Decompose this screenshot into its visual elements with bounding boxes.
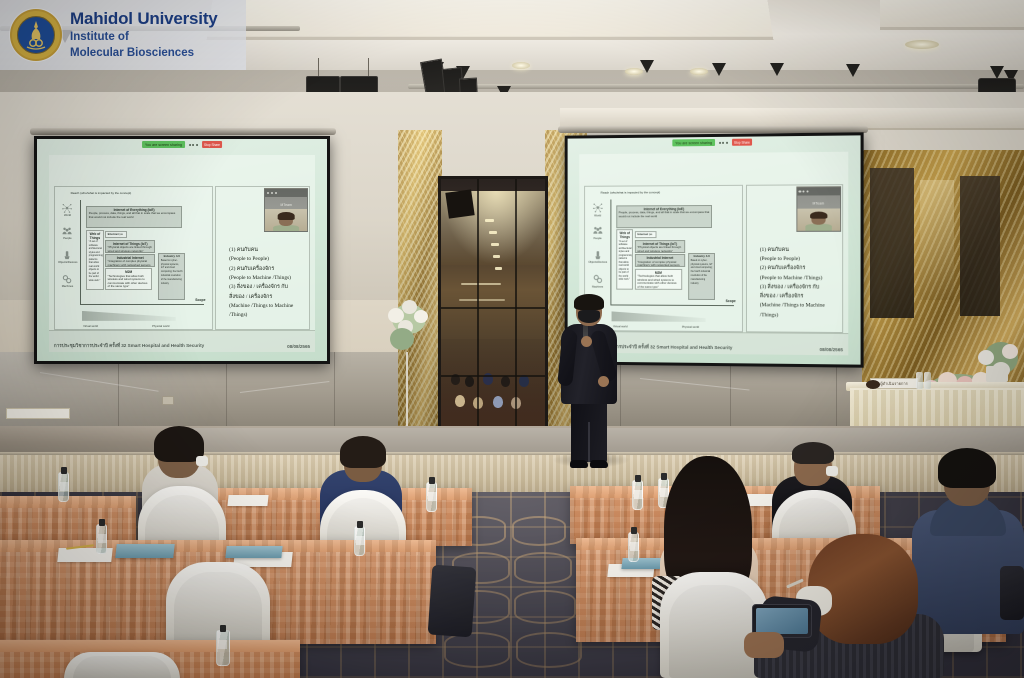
objects-devices-icon [60,250,74,260]
objects-devices-icon [591,250,605,260]
bay-panel [870,168,914,318]
slide-body: Reach (who/what is impacted by the conce… [54,186,310,330]
bag-icon [1000,566,1024,620]
slide-text-line: (People to Machine /Things) [229,274,301,283]
diagram-axis-label: Objects/Devices [58,261,77,264]
water-bottle-icon [916,372,923,389]
seminar-booklet [225,546,282,558]
slide-footer-date: 08/08/2565 [287,344,310,349]
diagram-box-internet: Internet (as we know it) [105,231,127,238]
zoom-participant-window[interactable]: MTeam [796,186,841,232]
conference-room-photo: You are screen sharing Stop Share Reach … [0,0,1024,678]
seated-staff-head [866,380,880,389]
diagram-virtual-world-label: Virtual world [83,325,98,328]
diagram-axis-label: World [588,214,607,217]
slide-text-line: (2) คนกับเครื่องจักร [229,265,301,274]
diagram-box-iot: Internet of Things (IoT) "Physical objec… [635,240,685,253]
doorway-glint [459,299,505,301]
diagram-box-industry-40: Industry 4.0 Based on cyber-physical sys… [688,253,715,301]
crest-emblem [23,20,49,50]
diagram-box-title: Internet [108,232,119,236]
diagram-axis-label: Machines [58,285,77,288]
diagram-box-body: "Physical objects are linked through wir… [108,245,152,252]
presenter-hair [574,294,604,310]
door-mullion [515,179,517,434]
marble-seam [334,352,335,428]
diagram-x-axis [610,305,734,307]
spotlight-icon [712,63,726,76]
machines-gear-icon [591,274,605,284]
presenter-leg-split [588,422,590,462]
diagram-box-body: "Integration of complex physical machine… [108,259,151,266]
laptop-icon [986,366,1008,382]
diagram-y-axis-note: (who/what is impacted by the concept) [610,191,660,195]
zoom-sharing-label: You are screen sharing [142,141,185,148]
diagram-box-body: "Integration of complex physical machine… [637,259,679,267]
slide-text-line: /Things) [229,311,301,320]
doorway-glint [461,283,501,285]
diagram-box-m2m: M2M "Technologies that allow both wirele… [105,268,152,289]
mask-strap [786,578,804,588]
zoom-window-titlebar [797,187,840,195]
diagram-y-axis-note: (who/what is impacted by the concept) [80,191,131,195]
water-bottle-icon [426,482,437,512]
diagram-x-axis [80,304,204,305]
doorway-crowd-reflection [441,339,548,431]
zoom-participant-video [797,208,840,231]
watermark-institute-line2: Molecular Biosciences [70,46,218,60]
face-mask-icon [826,466,838,476]
diagram-box-industrial-internet: Industrial Internet "Integration of comp… [105,254,155,267]
handout-paper [227,495,268,506]
door-mullion [477,179,479,434]
zoom-sharing-label: You are screen sharing [672,139,715,146]
diagram-gradient-triangle [82,311,176,321]
downlight-icon [905,40,939,49]
diagram-y-axis [610,200,611,306]
attendee-hair [340,436,386,468]
diagram-box-title: Internet [637,232,648,236]
watermark-overlay: Mahidol University Institute of Molecula… [0,0,246,70]
participant-hair [810,211,827,219]
people-icon [591,225,605,235]
diagram-physical-world-label: Physical world [152,325,169,328]
backpack-icon [428,565,477,638]
floral-arrangement-column [386,298,432,354]
presenter-speaking [558,296,620,472]
diagram-box-body: Based on cyber-physical systems, IoT and… [691,260,713,285]
watermark-institute-line1: Institute of [70,30,218,44]
world-network-icon [591,202,605,212]
slide-text-line: (People to People) [229,255,301,264]
spotlight-icon [846,64,860,77]
slide-footer-title: การประชุมวิชาการประจำปี ครั้งที่ 32 Smar… [54,343,204,350]
slide-footer-date: 08/08/2565 [820,347,843,352]
zoom-participant-name: MTeam [797,201,840,205]
carpet-motif [514,590,576,624]
doorway-glint [485,219,494,222]
slide-text-line: (People to People) [760,255,834,264]
downlight-icon [625,68,643,75]
carpet-motif [514,552,572,584]
diagram-box-ioe: Internet of Everything (IoE) People, pro… [616,205,712,228]
water-bottle-icon [924,372,931,389]
gold-column-left [398,130,442,435]
diagram-box-iot: Internet of Things (IoT) "Physical objec… [105,240,155,253]
slide-text-line: (1) คนกับคน [229,246,301,255]
diagram-box-body: "Technologies that allow both wireless a… [637,274,676,288]
slide-text-line: (2) คนกับเครื่องจักร [760,264,834,274]
slide-text-line: (Machine /Things to Machine [229,302,301,311]
wall-outlet-icon [162,396,174,405]
slide-text-line: สิ่งของ / เครื่องจักร [229,293,301,302]
tablecloth-top [0,640,300,652]
attendee-hair [938,448,996,488]
diagram-box-industry-40: Industry 4.0 Based on cyber-physical sys… [158,253,185,300]
diagram-axis-label: People [588,237,607,240]
watermark-university-name: Mahidol University [70,10,218,28]
bay-panel [960,176,1000,316]
doorway-glint [493,255,500,258]
slide-text-line: (1) คนกับคน [760,246,834,255]
screen-surface-left: You are screen sharing Stop Share Reach … [37,139,327,361]
slide-footer: การประชุมวิชาการประจำปี ครั้งที่ 32 Smar… [54,343,310,350]
name-card-left [6,408,70,419]
diagram-box-body: People, process, data, things, and all t… [619,210,710,218]
projection-screen-left: You are screen sharing Stop Share Reach … [34,136,330,364]
zoom-sharebar-dots [187,144,200,146]
slide-text-line: (3) สิ่งของ / เครื่องจักร กับ [229,283,301,292]
diagram-box-body: "A set of software architectural styles … [619,240,633,281]
water-bottle-icon [632,480,643,510]
diagram-y-axis-title-text: Reach [601,191,609,195]
slide-text-line: (3) สิ่งของ / เครื่องจักร กับ [760,283,834,293]
presenter-shoe [570,460,588,468]
diagram-box-internet: Internet (as we know it) [635,231,657,238]
water-bottle-icon [628,532,639,562]
diagram-axis-label: Machines [588,285,607,288]
diagram-axis-label: Objects/Devices [588,261,607,264]
water-bottle-icon [216,630,230,666]
door-mullion [441,307,548,309]
zoom-stop-share-button[interactable]: Stop Share [732,139,752,146]
slide-content-left: Reach (who/what is impacted by the conce… [49,155,316,353]
slide-body: Reach (who/what is impacted by the conce… [584,184,843,333]
attendee-phone-camera [754,528,944,678]
world-network-icon [60,203,74,213]
carpet-motif [516,632,582,668]
diagram-x-axis-title: Scope [726,299,736,303]
diagram-y-axis-title: Reach (who/what is impacted by the conce… [601,191,661,195]
slide-text-pane: MTeam (1) คนกับคน (People to People) (2)… [215,186,310,330]
face-mask-icon [578,310,600,323]
presenter-hand [598,376,609,387]
water-bottle-icon [58,472,69,502]
zoom-sharebar-dots [717,141,730,143]
diagram-box-body: "Technologies that allow both wireless a… [108,274,148,288]
reflected-person [465,376,474,387]
machines-gear-icon [60,274,74,284]
doorway-glint [495,267,502,270]
downlight-icon [690,68,708,75]
spotlight-icon [770,63,784,76]
seminar-booklet [115,544,174,558]
zoom-share-bar: You are screen sharing Stop Share [142,141,222,148]
zoom-participant-video [265,209,307,231]
diagram-y-axis-title: Reach (who/what is impacted by the conce… [71,191,132,195]
mirrored-doorway [438,176,548,434]
zoom-stop-share-button[interactable]: Stop Share [202,141,222,148]
attendee-hair [792,442,834,464]
presenter-shoe [590,460,608,468]
diagram-x-axis-title: Scope [195,298,205,302]
chair-cover [64,652,180,678]
zoom-window-titlebar [265,189,307,197]
watermark-text: Mahidol University Institute of Molecula… [70,10,218,60]
slide-text-line: สิ่งของ / เครื่องจักร [760,292,834,302]
diagram-y-axis [80,200,81,305]
slide-text-line: (Machine /Things to Machine [760,302,834,312]
zoom-participant-name: MTeam [265,203,307,207]
face-mask-icon [196,456,208,466]
diagram-axis-label: World [58,214,77,217]
people-icon [60,226,74,236]
diagram-box-body: Based on cyber-physical systems, IoT and… [161,260,183,285]
participant-body [805,224,832,231]
diagram-box-ioe: Internet of Everything (IoE) People, pro… [86,206,182,229]
downlight-icon [512,62,530,69]
carpet-motif [444,632,510,668]
presenter-hand [581,336,592,347]
diagram-axis-label: People [58,237,77,240]
slide-text-line: /Things) [760,311,834,321]
reflected-person [493,396,503,408]
diagram-y-axis-title-text: Reach [71,191,80,195]
speaker-wire [318,58,319,78]
doorway-glint [491,243,499,246]
participant-body [273,225,299,232]
slide-text-pane: MTeam (1) คนกับคน (People to People) (2)… [746,184,843,333]
ceiling-coffer-center [207,0,774,40]
diagram-box-m2m: M2M "Technologies that allow both wirele… [635,268,682,290]
phone-screen [756,608,808,634]
diagram-box-title: Industry 4.0 [161,255,183,259]
water-bottle-icon [354,526,365,556]
bay-light-reflection [920,180,954,300]
diagram-box-industrial-internet: Industrial Internet "Integration of comp… [635,254,685,267]
carpet-motif [512,516,566,546]
diagram-gradient-triangle [612,311,706,322]
diagram-box-title: Industry 4.0 [691,255,713,259]
zoom-share-bar: You are screen sharing Stop Share [672,139,752,147]
door-mullion [441,375,548,377]
participant-hair [278,212,295,219]
diagram-box-web-of-things: Web of Things "A set of software archite… [616,230,633,290]
diagram-box-web-of-things: Web of Things "A set of software archite… [86,230,103,290]
reflected-person [455,395,465,407]
diagram-physical-world-label: Physical world [682,326,699,329]
ceiling-coffer-right [880,0,1024,30]
diagram-box-body: "A set of software architectural styles … [89,240,103,281]
doorway-reflected-monitor [445,189,474,218]
attendee-hand [744,632,784,658]
diagram-box-body: "Physical objects are linked through wir… [637,245,681,252]
diagram-box-title: Web of Things [89,232,101,240]
doorway-glint [489,231,497,234]
diagram-box-body: People, process, data, things, and all t… [89,211,175,218]
zoom-participant-window[interactable]: MTeam [264,188,308,232]
diagram-box-title: Web of Things [619,232,631,240]
slide-text-line: (People to Machine /Things) [760,274,834,284]
speaker-wire [368,58,369,78]
reflected-person [501,376,510,387]
screen-roller-left [30,128,336,135]
iot-concept-diagram: Reach (who/what is impacted by the conce… [54,186,213,330]
water-bottle-icon [96,524,107,554]
mahidol-crest-icon [10,9,62,61]
